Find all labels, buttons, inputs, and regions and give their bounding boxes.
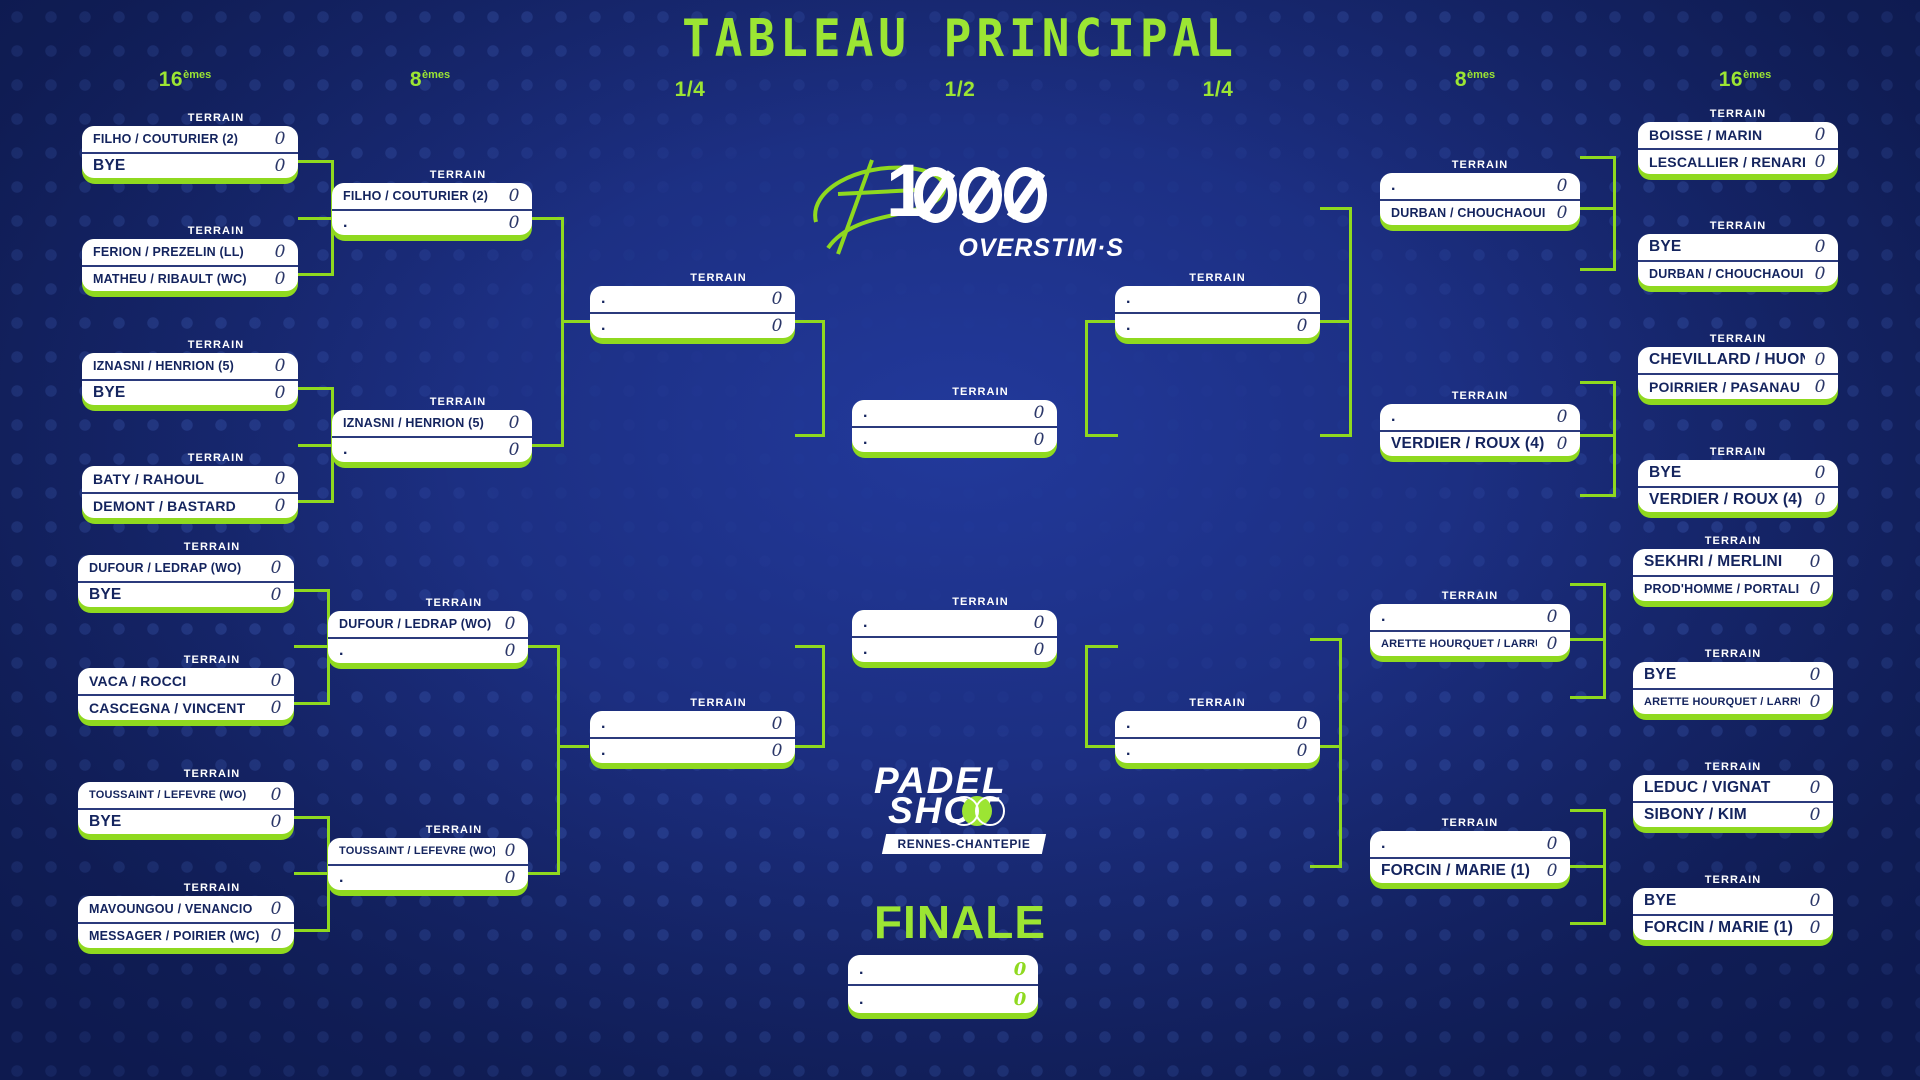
player-name: . [863,610,1024,636]
match-row[interactable]: BYE0 [1633,662,1833,688]
player-name: TOUSSAINT / LEFEVRE (WO) [89,782,261,808]
match-card-body[interactable]: .0.0 [848,955,1038,1019]
player-name: . [601,313,762,338]
match-row[interactable]: FILHO / COUTURIER (2)0 [332,183,532,209]
connector-line [298,500,334,503]
match-card-body[interactable]: .0.0 [590,711,795,769]
round-label-l16: 16èmes [159,68,212,92]
terrain-label: TERRAIN [78,768,320,780]
score-value: 0 [273,380,287,405]
player-name: IZNASNI / HENRION (5) [93,353,265,379]
player-name: DUFOUR / LEDRAP (WO) [89,555,261,581]
match-card-body[interactable]: BATY / RAHOUL0DEMONT / BASTARD0 [82,466,298,524]
match-card-body[interactable]: CHEVILLARD / HUON0POIRRIER / PASANAU0 [1638,347,1838,405]
match-card-body[interactable]: BOISSE / MARIN0LESCALLIER / RENARD0 [1638,122,1838,180]
match-row[interactable]: BYE0 [78,581,294,607]
terrain-label: TERRAIN [1380,159,1606,171]
match-row[interactable]: .0 [1370,604,1570,630]
match-card-body[interactable]: .0.0 [590,286,795,344]
match-row[interactable]: .0 [848,955,1038,984]
terrain-label: TERRAIN [332,169,558,181]
score-value: 0 [1808,549,1822,575]
player-name: LESCALLIER / RENARD [1649,149,1805,174]
player-name: SEKHRI / MERLINI [1644,549,1800,575]
score-value: 0 [273,353,287,379]
round-label-suffix: èmes [1743,69,1771,81]
match-row[interactable]: .0 [328,637,528,663]
round-label-text: 1/2 [945,78,976,101]
connector-line [528,645,560,648]
match-card-inner: BATY / RAHOUL0DEMONT / BASTARD0 [82,466,298,518]
score-value: 0 [1808,802,1822,827]
player-name: . [1126,286,1287,312]
match-card-body[interactable]: BYE0VERDIER / ROUX (4)0 [1638,460,1838,518]
player-name: FILHO / COUTURIER (2) [343,183,499,209]
player-name: BYE [89,582,261,607]
match-card-inner: .0.0 [852,400,1057,452]
terrain-label: TERRAIN [78,654,320,666]
score-value: 0 [269,695,283,720]
connector-line [298,160,334,163]
connector-line [1085,320,1118,323]
player-name: . [1381,604,1537,630]
match-card-inner: .0.0 [590,711,795,763]
match-row[interactable]: .0 [852,400,1057,426]
score-value: 0 [1013,985,1027,1013]
player-name: . [601,711,762,737]
player-name: . [863,637,1024,662]
match-card-inner: SEKHRI / MERLINI0PROD'HOMME / PORTALIS0 [1633,549,1833,601]
connector-line [1310,865,1342,868]
match-row[interactable]: .0 [1380,404,1580,430]
score-value: 0 [1032,427,1046,452]
score-value: 0 [770,313,784,338]
terrain-label: TERRAIN [1633,535,1859,547]
player-name: FERION / PREZELIN (LL) [93,239,265,265]
terrain-label: TERRAIN [1638,446,1864,458]
match-card-inner: DUFOUR / LEDRAP (WO)0.0 [328,611,528,663]
player-name: . [1391,404,1547,430]
score-value: 0 [507,410,521,436]
score-value: 0 [770,738,784,763]
match-row[interactable]: SEKHRI / MERLINI0 [1633,549,1833,575]
player-name: VACA / ROCCI [89,668,261,694]
player-name: IZNASNI / HENRION (5) [343,410,499,436]
padelshot-logo: PADEL SHOT RENNES-CHANTEPIE [866,762,1056,862]
connector-line [1085,645,1118,648]
player-name: BYE [93,153,265,178]
round-label-text: 8 [410,68,422,91]
player-name: . [1381,831,1537,857]
match-card-inner: DUFOUR / LEDRAP (WO)0BYE0 [78,555,294,607]
round-label-rq: 1/4 [1203,78,1234,102]
match-row[interactable]: .0 [590,711,795,737]
match-row[interactable]: PROD'HOMME / PORTALIS0 [1633,575,1833,601]
match-row[interactable]: MATHEU / RIBAULT (WC)0 [82,265,298,291]
match-card-body[interactable]: .0VERDIER / ROUX (4)0 [1380,404,1580,462]
p1000-logo: 1 OVERSTIM·S [798,150,1128,275]
connector-line [532,217,564,220]
connector-line [1570,583,1606,586]
connector-line [795,645,825,648]
terrain-label: TERRAIN [590,272,821,284]
match-card-body[interactable]: IZNASNI / HENRION (5)0.0 [332,410,532,468]
terrain-label: TERRAIN [1633,874,1859,886]
match-card-body[interactable]: .0.0 [852,400,1057,458]
match-card-inner: TOUSSAINT / LEFEVRE (WO)0BYE0 [78,782,294,834]
match-row[interactable]: TOUSSAINT / LEFEVRE (WO)0 [78,782,294,808]
score-value: 0 [1813,487,1827,512]
connector-line [294,589,330,592]
match-card-inner: .0.0 [852,610,1057,662]
match-row[interactable]: ARETTE HOURQUET / LARRUE (6)0 [1370,630,1570,656]
connector-line [1085,645,1088,748]
score-value: 0 [1813,261,1827,286]
player-name: POIRRIER / PASANAU [1649,374,1805,399]
connector-line [1570,865,1606,868]
match-row[interactable]: .0 [1115,711,1320,737]
player-name: . [601,286,762,312]
terrain-label: TERRAIN [1638,108,1864,120]
connector-line [1310,638,1342,641]
terrain-label: TERRAIN [1115,272,1346,284]
match-card-inner: BOISSE / MARIN0LESCALLIER / RENARD0 [1638,122,1838,174]
round-label-ls: 1/2 [945,78,976,102]
score-value: 0 [1813,149,1827,174]
round-label-text: 8 [1455,68,1467,91]
connector-line [561,320,593,323]
match-card-inner: .0ARETTE HOURQUET / LARRUE (6)0 [1370,604,1570,656]
terrain-label: TERRAIN [328,597,554,609]
match-row[interactable]: BOISSE / MARIN0 [1638,122,1838,148]
score-value: 0 [1555,173,1569,199]
round-label-text: 16 [159,68,183,91]
match-card-body[interactable]: .0.0 [1115,286,1320,344]
player-name: MATHEU / RIBAULT (WC) [93,266,265,291]
match-card-body[interactable]: .0ARETTE HOURQUET / LARRUE (6)0 [1370,604,1570,662]
player-name: DUFOUR / LEDRAP (WO) [339,611,495,637]
score-value: 0 [1813,347,1827,373]
match-row[interactable]: .0 [1115,737,1320,763]
player-name: DURBAN / CHOUCHAOUI (8) [1649,261,1805,286]
match-card-inner: .0DURBAN / CHOUCHAOUI (8)0 [1380,173,1580,225]
score-value: 0 [503,865,517,890]
match-card-body[interactable]: IZNASNI / HENRION (5)0BYE0 [82,353,298,411]
connector-line [795,320,825,323]
terrain-label: TERRAIN [332,396,558,408]
match-row[interactable]: FERION / PREZELIN (LL)0 [82,239,298,265]
terrain-label: TERRAIN [82,452,324,464]
score-value: 0 [1032,637,1046,662]
connector-line [1339,638,1342,868]
score-value: 0 [1545,631,1559,656]
score-value: 0 [1295,286,1309,312]
score-value: 0 [1813,460,1827,486]
connector-line [528,872,560,875]
round-label-lq: 1/4 [675,78,706,102]
match-card-inner: IZNASNI / HENRION (5)0.0 [332,410,532,462]
score-value: 0 [1813,234,1827,260]
score-value: 0 [1813,122,1827,148]
match-row[interactable]: .0 [852,636,1057,662]
match-row[interactable]: .0 [590,737,795,763]
match-row[interactable]: .0 [332,436,532,462]
match-card-inner: BYE0ARETTE HOURQUET / LARRUE (6)0 [1633,662,1833,714]
connector-line [1570,809,1606,812]
match-row[interactable]: DUFOUR / LEDRAP (WO)0 [78,555,294,581]
match-row[interactable]: FORCIN / MARIE (1)0 [1370,857,1570,883]
score-value: 0 [1555,404,1569,430]
player-name: . [1391,173,1547,199]
match-row[interactable]: .0 [852,426,1057,452]
connector-line [1320,320,1352,323]
score-value: 0 [1545,831,1559,857]
player-name: . [863,400,1024,426]
match-row[interactable]: SIBONY / KIM0 [1633,801,1833,827]
match-row[interactable]: BYE0 [1638,460,1838,486]
player-name: FILHO / COUTURIER (2) [93,126,265,152]
match-card-body[interactable]: DUFOUR / LEDRAP (WO)0BYE0 [78,555,294,613]
connector-line [1570,696,1606,699]
connector-line [822,320,825,435]
connector-line [557,745,589,748]
match-row[interactable]: IZNASNI / HENRION (5)0 [332,410,532,436]
connector-line [1320,207,1352,210]
connector-line [298,444,334,447]
player-name: ARETTE HOURQUET / LARRUE (6) [1381,631,1537,656]
match-card-body[interactable]: SEKHRI / MERLINI0PROD'HOMME / PORTALIS0 [1633,549,1833,607]
score-value: 0 [1555,431,1569,456]
player-name: ARETTE HOURQUET / LARRUE (6) [1644,689,1800,714]
terrain-label: TERRAIN [82,225,324,237]
player-name: . [339,865,495,890]
player-name: DURBAN / CHOUCHAOUI (8) [1391,200,1547,225]
match-row[interactable]: BYE0 [1638,234,1838,260]
match-row[interactable]: .0 [1370,831,1570,857]
finale-heading: FINALE [0,895,1920,949]
match-card-inner: VACA / ROCCI0CASCEGNA / VINCENT0 [78,668,294,720]
match-row[interactable]: FILHO / COUTURIER (2)0 [82,126,298,152]
match-card-inner: .0.0 [1115,711,1320,763]
connector-line [532,444,564,447]
connector-line [1570,638,1606,641]
tennis-ball-icon [962,796,992,826]
player-name: . [859,955,1005,984]
terrain-label: TERRAIN [1638,220,1864,232]
score-value: 0 [1032,400,1046,426]
terrain-label: TERRAIN [1370,590,1596,602]
match-card-body[interactable]: BYE0DURBAN / CHOUCHAOUI (8)0 [1638,234,1838,292]
player-name: CHEVILLARD / HUON [1649,347,1805,373]
match-row[interactable]: .0 [852,610,1057,636]
score-value: 0 [273,239,287,265]
match-row[interactable]: BATY / RAHOUL0 [82,466,298,492]
player-name: PROD'HOMME / PORTALIS [1644,576,1800,601]
match-row[interactable]: VERDIER / ROUX (4)0 [1638,486,1838,512]
match-card-body[interactable]: VACA / ROCCI0CASCEGNA / VINCENT0 [78,668,294,726]
score-value: 0 [503,838,517,864]
round-label-l8: 8èmes [410,68,450,92]
match-row[interactable]: IZNASNI / HENRION (5)0 [82,353,298,379]
terrain-label: TERRAIN [1370,817,1596,829]
player-name: VERDIER / ROUX (4) [1391,431,1547,456]
match-card-inner: FILHO / COUTURIER (2)0.0 [332,183,532,235]
score-value: 0 [507,183,521,209]
score-value: 0 [269,782,283,808]
player-name: . [1126,738,1287,763]
score-value: 0 [1295,711,1309,737]
match-card-inner: BYE0DURBAN / CHOUCHAOUI (8)0 [1638,234,1838,286]
terrain-label: TERRAIN [78,882,320,894]
match-row[interactable]: ARETTE HOURQUET / LARRUE (6)0 [1633,688,1833,714]
page-title: TABLEAU PRINCIPAL [0,8,1920,68]
score-value: 0 [503,611,517,637]
player-name: . [1126,313,1287,338]
match-card-inner: FILHO / COUTURIER (2)0BYE0 [82,126,298,178]
score-value: 0 [507,210,521,235]
connector-line [1603,583,1606,696]
connector-line [1613,156,1616,269]
match-row[interactable]: DURBAN / CHOUCHAOUI (8)0 [1638,260,1838,286]
score-value: 0 [1808,662,1822,688]
terrain-label: TERRAIN [1633,648,1859,660]
score-value: 0 [1295,313,1309,338]
connector-line [795,434,825,437]
player-name: TOUSSAINT / LEFEVRE (WO) [339,838,495,864]
terrain-label: TERRAIN [852,386,1083,398]
connector-line [1580,494,1616,497]
score-value: 0 [269,809,283,834]
score-value: 0 [1813,374,1827,399]
match-row[interactable]: .0 [1380,173,1580,199]
match-card-body[interactable]: FILHO / COUTURIER (2)0.0 [332,183,532,241]
match-card-inner: LEDUC / VIGNAT0SIBONY / KIM0 [1633,775,1833,827]
connector-line [1580,268,1616,271]
match-card-body[interactable]: TOUSSAINT / LEFEVRE (WO)0.0 [328,838,528,896]
match-row[interactable]: BYE0 [78,808,294,834]
player-name: LEDUC / VIGNAT [1644,775,1800,801]
match-card-inner: CHEVILLARD / HUON0POIRRIER / PASANAU0 [1638,347,1838,399]
score-value: 0 [1808,689,1822,714]
terrain-label: TERRAIN [1380,390,1606,402]
match-row[interactable]: DEMONT / BASTARD0 [82,492,298,518]
match-row[interactable]: VACA / ROCCI0 [78,668,294,694]
score-value: 0 [273,126,287,152]
player-name: BYE [1649,460,1805,486]
match-row[interactable]: .0 [328,864,528,890]
match-card-body[interactable]: BYE0ARETTE HOURQUET / LARRUE (6)0 [1633,662,1833,720]
match-row[interactable]: TOUSSAINT / LEFEVRE (WO)0 [328,838,528,864]
connector-line [1580,381,1616,384]
match-row[interactable]: DUFOUR / LEDRAP (WO)0 [328,611,528,637]
player-name: BATY / RAHOUL [93,466,265,492]
score-value: 0 [273,266,287,291]
p1000-number: 1 [886,154,1047,228]
player-name: DEMONT / BASTARD [93,493,265,518]
match-card-body[interactable]: .0DURBAN / CHOUCHAOUI (8)0 [1380,173,1580,231]
match-card-body[interactable]: FILHO / COUTURIER (2)0BYE0 [82,126,298,184]
match-row[interactable]: CHEVILLARD / HUON0 [1638,347,1838,373]
match-card-body[interactable]: .0FORCIN / MARIE (1)0 [1370,831,1570,889]
score-value: 0 [1545,858,1559,883]
match-card-body[interactable]: LEDUC / VIGNAT0SIBONY / KIM0 [1633,775,1833,833]
score-value: 0 [770,286,784,312]
bracket-stage: TABLEAU PRINCIPAL 16èmes8èmes1/41/21/48è… [0,0,1920,1080]
score-value: 0 [1032,610,1046,636]
connector-line [1580,207,1616,210]
round-label-suffix: èmes [422,69,450,81]
match-row[interactable]: .0 [590,286,795,312]
match-row[interactable]: DURBAN / CHOUCHAOUI (8)0 [1380,199,1580,225]
connector-line [294,872,330,875]
match-row[interactable]: .0 [332,209,532,235]
match-row[interactable]: VERDIER / ROUX (4)0 [1380,430,1580,456]
padelshot-club-banner: RENNES-CHANTEPIE [882,834,1046,854]
match-row[interactable]: POIRRIER / PASANAU0 [1638,373,1838,399]
round-label-text: 1/4 [675,78,706,101]
player-name: . [339,638,495,663]
match-card-body[interactable]: .0.0 [1115,711,1320,769]
match-row[interactable]: .0 [848,984,1038,1013]
terrain-label: TERRAIN [1115,697,1346,709]
connector-line [298,217,334,220]
match-card-body[interactable]: DUFOUR / LEDRAP (WO)0.0 [328,611,528,669]
match-row[interactable]: LEDUC / VIGNAT0 [1633,775,1833,801]
connector-line [1085,434,1118,437]
match-card-body[interactable]: .0.0 [852,610,1057,668]
player-name: CASCEGNA / VINCENT [89,695,261,720]
connector-line [294,816,330,819]
match-card-body[interactable]: FERION / PREZELIN (LL)0MATHEU / RIBAULT … [82,239,298,297]
terrain-label: TERRAIN [78,541,320,553]
terrain-label: TERRAIN [852,596,1083,608]
match-row[interactable]: BYE0 [82,152,298,178]
match-row[interactable]: .0 [590,312,795,338]
terrain-label: TERRAIN [82,112,324,124]
terrain-label: TERRAIN [82,339,324,351]
padelshot-club-name: RENNES-CHANTEPIE [884,834,1044,854]
match-card-inner: FERION / PREZELIN (LL)0MATHEU / RIBAULT … [82,239,298,291]
terrain-label: TERRAIN [590,697,821,709]
player-name: BYE [93,380,265,405]
match-row[interactable]: .0 [1115,312,1320,338]
score-value: 0 [1555,200,1569,225]
match-row[interactable]: LESCALLIER / RENARD0 [1638,148,1838,174]
round-label-suffix: èmes [183,69,211,81]
player-name: VERDIER / ROUX (4) [1649,487,1805,512]
player-name: . [863,427,1024,452]
connector-line [822,645,825,748]
player-name: . [343,437,499,462]
score-value: 0 [269,555,283,581]
connector-line [298,387,334,390]
match-card-inner: IZNASNI / HENRION (5)0BYE0 [82,353,298,405]
connector-line [1349,207,1352,437]
match-row[interactable]: BYE0 [82,379,298,405]
round-label-text: 16 [1719,68,1743,91]
match-row[interactable]: .0 [1115,286,1320,312]
player-name: . [859,985,1005,1013]
match-card-inner: .0FORCIN / MARIE (1)0 [1370,831,1570,883]
connector-line [1580,434,1616,437]
match-card-inner: BYE0VERDIER / ROUX (4)0 [1638,460,1838,512]
score-value: 0 [269,668,283,694]
match-row[interactable]: CASCEGNA / VINCENT0 [78,694,294,720]
connector-line [1085,320,1088,437]
connector-line [294,702,330,705]
player-name: FORCIN / MARIE (1) [1381,858,1537,883]
match-card-body[interactable]: TOUSSAINT / LEFEVRE (WO)0BYE0 [78,782,294,840]
